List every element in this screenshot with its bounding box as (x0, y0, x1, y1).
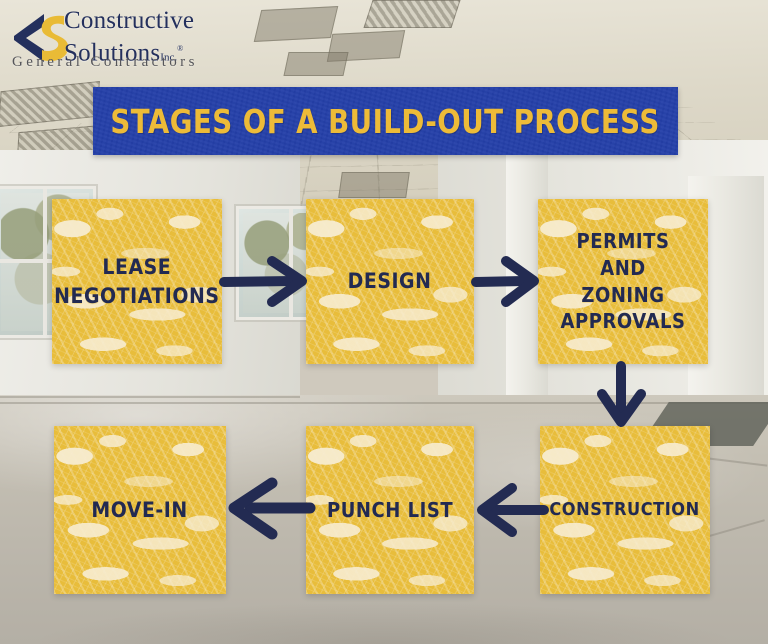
ceiling-tile-dark-4 (338, 172, 410, 198)
page-title: STAGES OF A BUILD-OUT PROCESS (111, 102, 660, 141)
ceiling-tile-dark-1 (254, 6, 339, 42)
ceiling-tile-dark-3 (283, 52, 348, 76)
arrow-construction-to-punch-list-icon (472, 482, 546, 538)
arrow-permits-to-construction-icon (596, 364, 648, 428)
baseboard-left (0, 396, 300, 398)
infographic-canvas: Constructive SolutionsInc.® General Cont… (0, 0, 768, 644)
arrow-punch-list-to-move-in-icon (222, 478, 312, 540)
ceiling-vent-1 (363, 0, 460, 28)
step-label-design: DESIGN (343, 267, 438, 295)
step-box-lease-negotiations[interactable]: LEASE NEGOTIATIONS (52, 199, 222, 364)
step-box-permits-and-zoning-approvals[interactable]: PERMITS AND ZONING APPROVALS (538, 199, 708, 364)
step-label-lease-negotiations: LEASE NEGOTIATIONS (49, 253, 225, 309)
title-banner: STAGES OF A BUILD-OUT PROCESS (93, 87, 678, 155)
arrow-lease-to-design-icon (222, 255, 314, 307)
step-label-move-in: MOVE-IN (86, 496, 193, 524)
step-box-move-in[interactable]: MOVE-IN (54, 426, 226, 594)
step-label-punch-list: PUNCH LIST (321, 497, 458, 524)
arrow-design-to-permits-icon (474, 255, 546, 307)
logo-tagline: General Contractors (12, 54, 198, 71)
step-box-punch-list[interactable]: PUNCH LIST (306, 426, 474, 594)
logo-registered-mark: ® (177, 44, 183, 53)
step-label-permits-and-zoning-approvals: PERMITS AND ZONING APPROVALS (547, 228, 700, 335)
logo-line-1: Constructive (64, 8, 194, 33)
floor-seam-1 (0, 402, 768, 404)
step-box-design[interactable]: DESIGN (306, 199, 474, 364)
step-label-construction: CONSTRUCTION (544, 498, 705, 522)
step-box-construction[interactable]: CONSTRUCTION (540, 426, 710, 594)
